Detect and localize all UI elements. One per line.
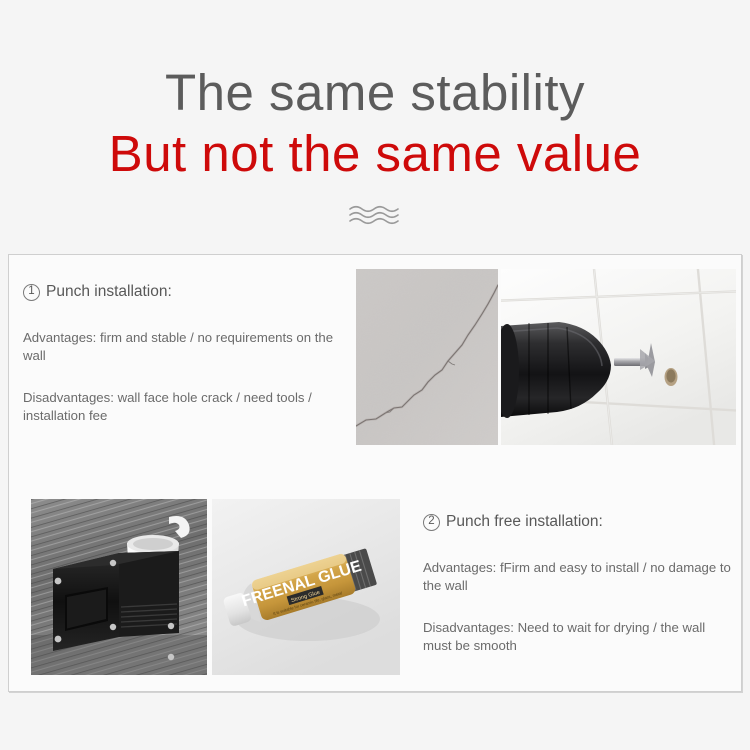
black-bracket-photo xyxy=(31,499,207,675)
glue-tube-photo: FREENAL GLUE Strong Glue It is suitable … xyxy=(212,499,400,675)
installation-comparison-panel: 1 Punch installation: Advantages: firm a… xyxy=(8,254,742,692)
step-1-advantages: Advantages: firm and stable / no require… xyxy=(23,329,353,364)
header-banner: The same stability But not the same valu… xyxy=(0,0,750,250)
step-2-text-block: 2 Punch free installation: Advantages: f… xyxy=(423,513,733,654)
step-1-number-badge: 1 xyxy=(23,284,40,301)
step-1-text-block: 1 Punch installation: Advantages: firm a… xyxy=(23,283,353,424)
step-1-title: Punch installation: xyxy=(46,283,172,301)
step-2-disadvantages: Disadvantages: Need to wait for drying /… xyxy=(423,619,733,654)
step-1-disadvantages: Disadvantages: wall face hole crack / ne… xyxy=(23,389,353,424)
page-root: The same stability But not the same valu… xyxy=(0,0,750,750)
wave-divider-icon xyxy=(347,203,403,227)
wall-crack-photo xyxy=(356,269,498,445)
step-2-heading: 2 Punch free installation: xyxy=(423,513,733,531)
headline-primary: The same stability xyxy=(0,63,750,122)
step-2-title: Punch free installation: xyxy=(446,513,603,531)
headline-secondary: But not the same value xyxy=(0,124,750,183)
step-2-number-badge: 2 xyxy=(423,514,440,531)
step-2-advantages: Advantages: fFirm and easy to install / … xyxy=(423,559,733,594)
electric-drill-photo xyxy=(501,269,736,445)
step-1-heading: 1 Punch installation: xyxy=(23,283,353,301)
